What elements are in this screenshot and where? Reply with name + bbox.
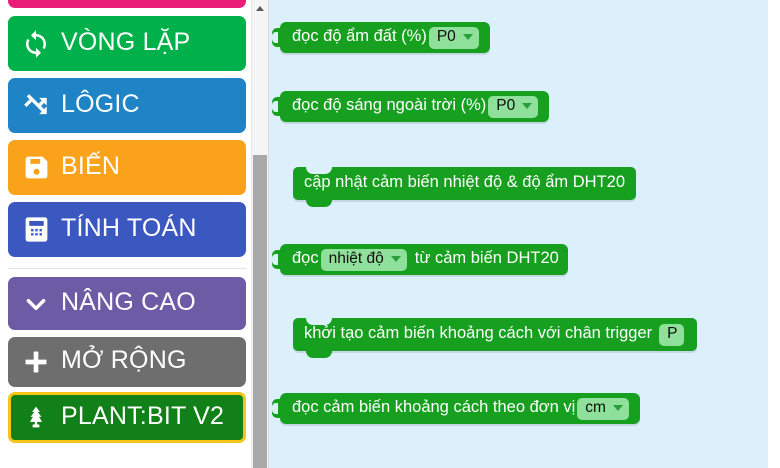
sidebar-item-label: NÂNG CAO (61, 290, 196, 318)
dropdown-trigger-pin[interactable]: P (659, 324, 683, 346)
category-strip-partial[interactable] (8, 0, 246, 8)
scrollbar-thumb[interactable] (253, 155, 267, 468)
sidebar-item-variables[interactable]: BIẾN (8, 140, 246, 195)
block-label-suffix: từ cảm biến DHT20 (415, 249, 559, 270)
block-label: đọc cảm biến khoảng cách theo đơn vị (292, 398, 575, 419)
puzzle-tab-icon (272, 28, 282, 47)
tree-icon (19, 401, 53, 435)
block-label: cập nhật cảm biến nhiệt độ & độ ẩm DHT20 (304, 173, 625, 194)
block-distance-read[interactable]: đọc cảm biến khoảng cách theo đơn vị cm (280, 393, 640, 424)
shuffle-icon (19, 89, 53, 123)
block-distance-init[interactable]: khởi tạo cảm biến khoảng cách với chân t… (293, 318, 697, 351)
dropdown-measure[interactable]: nhiệt độ (321, 249, 407, 271)
scroll-up-button[interactable] (252, 0, 268, 16)
blockly-editor: VÒNG LẶP LÔGIC BIẾN (0, 0, 780, 468)
toolbox-scrollbar[interactable] (252, 0, 269, 468)
caret-down-icon (463, 34, 473, 40)
dropdown-value: cm (585, 399, 606, 419)
puzzle-tab-icon (272, 399, 282, 418)
sidebar-item-loop[interactable]: VÒNG LẶP (8, 16, 246, 71)
caret-down-icon (522, 103, 532, 109)
dropdown-unit[interactable]: cm (577, 398, 629, 420)
nub-icon (306, 351, 332, 358)
sidebar-item-extension[interactable]: MỞ RỘNG (8, 337, 246, 387)
sidebar-item-plantbit[interactable]: PLANT:BIT V2 (8, 392, 246, 443)
block-label: khởi tạo cảm biến khoảng cách với chân t… (304, 324, 652, 345)
sidebar-divider (8, 268, 246, 269)
dropdown-pin[interactable]: P0 (429, 27, 479, 49)
dropdown-pin[interactable]: P0 (488, 96, 538, 118)
floppy-disk-icon (19, 151, 53, 185)
block-dht20-update[interactable]: cập nhật cảm biến nhiệt độ & độ ẩm DHT20 (293, 167, 636, 200)
block-outdoor-light[interactable]: đọc độ sáng ngoài trời (%) P0 (280, 91, 549, 122)
triangle-up-icon (256, 6, 264, 11)
block-label: đọc độ sáng ngoài trời (%) (292, 96, 486, 117)
sidebar-item-label: VÒNG LẶP (61, 30, 190, 58)
canvas-right-margin (768, 0, 780, 468)
caret-down-icon (613, 405, 623, 411)
block-dht20-read[interactable]: đọc nhiệt độ từ cảm biến DHT20 (280, 244, 568, 275)
sidebar-item-label: TÍNH TOÁN (61, 216, 197, 244)
block-soil-moisture[interactable]: đọc độ ẩm đất (%) P0 (280, 22, 490, 53)
notch-icon (306, 318, 332, 325)
plus-icon (19, 345, 53, 379)
sidebar-item-advanced[interactable]: NÂNG CAO (8, 277, 246, 330)
dropdown-value: nhiệt độ (329, 250, 384, 270)
calculator-icon (19, 213, 53, 247)
chevron-down-icon (19, 287, 53, 321)
sidebar-item-label: LÔGIC (61, 92, 140, 120)
nub-icon (306, 200, 332, 207)
puzzle-tab-icon (272, 250, 282, 269)
dropdown-value: P0 (496, 97, 515, 117)
block-label: đọc (292, 249, 319, 270)
sidebar-item-label: MỞ RỘNG (61, 348, 187, 376)
block-canvas[interactable]: đọc độ ẩm đất (%) P0 đọc độ sáng ngoài t… (269, 0, 780, 468)
sidebar-item-logic[interactable]: LÔGIC (8, 78, 246, 133)
sidebar-item-label: BIẾN (61, 154, 120, 182)
block-label: đọc độ ẩm đất (%) (292, 27, 427, 48)
sidebar-item-math[interactable]: TÍNH TOÁN (8, 202, 246, 257)
puzzle-tab-icon (272, 97, 282, 116)
dropdown-value: P0 (437, 28, 456, 48)
category-sidebar: VÒNG LẶP LÔGIC BIẾN (0, 0, 252, 468)
caret-down-icon (391, 256, 401, 262)
notch-icon (306, 167, 332, 174)
sidebar-item-label: PLANT:BIT V2 (61, 404, 224, 432)
loop-icon (19, 27, 53, 61)
dropdown-value: P (667, 325, 677, 345)
